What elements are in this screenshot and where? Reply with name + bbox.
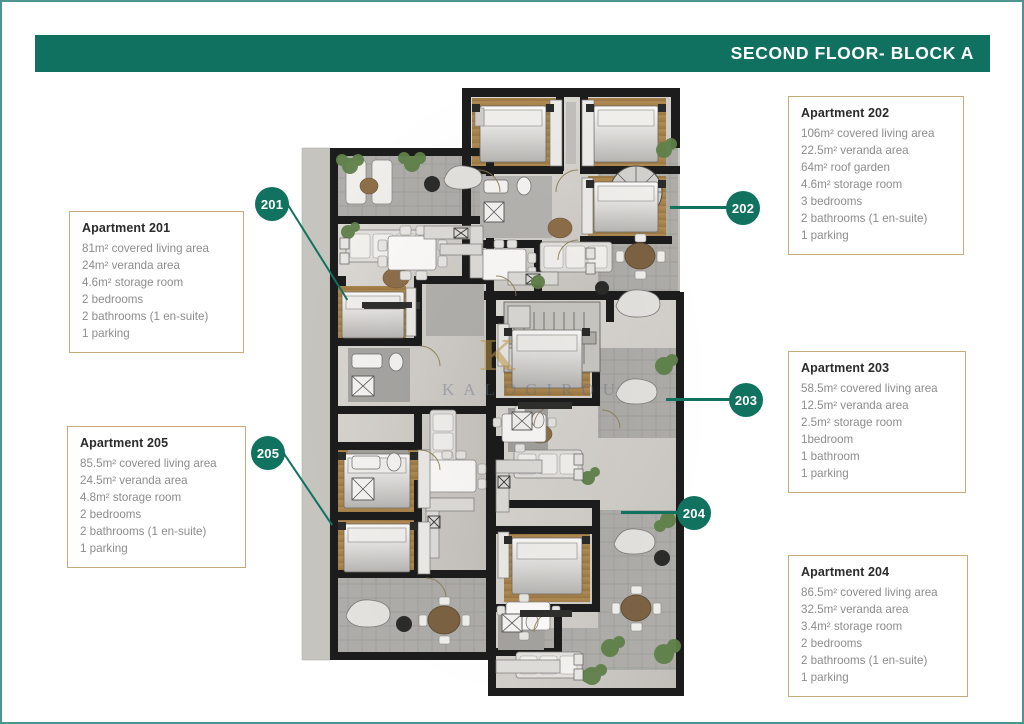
apartment-title-201: Apartment 201 — [82, 221, 231, 235]
apartment-spec: 86.5m² covered living area — [801, 584, 955, 601]
marker-203[interactable]: 203 — [729, 383, 763, 417]
apartment-spec: 4.8m² storage room — [80, 489, 233, 506]
leader-line-202 — [670, 206, 728, 209]
apartment-spec: 24m² veranda area — [82, 257, 231, 274]
apartment-spec: 3.4m² storage room — [801, 618, 955, 635]
apartment-spec: 4.6m² storage room — [82, 274, 231, 291]
floor-plan-graphic — [292, 80, 712, 700]
apartment-spec: 2 bedrooms — [801, 635, 955, 652]
apartment-spec: 12.5m² veranda area — [801, 397, 953, 414]
apartment-spec: 24.5m² veranda area — [80, 472, 233, 489]
page-title: SECOND FLOOR- BLOCK A — [731, 35, 974, 72]
apartment-title-203: Apartment 203 — [801, 361, 953, 375]
apartment-spec: 2 bathrooms (1 en-suite) — [801, 652, 955, 669]
apartment-info-203: Apartment 203 58.5m² covered living area… — [788, 351, 966, 493]
marker-204[interactable]: 204 — [677, 496, 711, 530]
apartment-spec: 1 parking — [82, 325, 231, 342]
apartment-spec: 81m² covered living area — [82, 240, 231, 257]
marker-205[interactable]: 205 — [251, 436, 285, 470]
apartment-info-201: Apartment 201 81m² covered living area 2… — [69, 211, 244, 353]
apartment-spec: 1 parking — [801, 227, 951, 244]
apartment-spec: 2 bathrooms (1 en-suite) — [82, 308, 231, 325]
apartment-spec: 85.5m² covered living area — [80, 455, 233, 472]
apartment-spec: 1 bathroom — [801, 448, 953, 465]
apartment-spec: 1 parking — [80, 540, 233, 557]
apartment-spec: 1 parking — [801, 669, 955, 686]
header-banner: SECOND FLOOR- BLOCK A — [35, 35, 990, 72]
apartment-spec: 1 parking — [801, 465, 953, 482]
floor-plan-svg — [292, 80, 712, 700]
marker-202[interactable]: 202 — [726, 191, 760, 225]
apartment-spec: 2 bedrooms — [82, 291, 231, 308]
apartment-spec: 58.5m² covered living area — [801, 380, 953, 397]
apartment-spec: 1bedroom — [801, 431, 953, 448]
leader-line-204 — [621, 511, 679, 514]
apartment-title-204: Apartment 204 — [801, 565, 955, 579]
apartment-spec: 3 bedrooms — [801, 193, 951, 210]
leader-line-203 — [666, 398, 731, 401]
apartment-spec: 4.6m² storage room — [801, 176, 951, 193]
apartment-info-202: Apartment 202 106m² covered living area … — [788, 96, 964, 255]
apartment-title-202: Apartment 202 — [801, 106, 951, 120]
apartment-spec: 2 bathrooms (1 en-suite) — [80, 523, 233, 540]
floor-plan-page: SECOND FLOOR- BLOCK A — [0, 0, 1024, 724]
apartment-spec: 106m² covered living area — [801, 125, 951, 142]
apartment-spec: 64m² roof garden — [801, 159, 951, 176]
apartment-spec: 2 bedrooms — [80, 506, 233, 523]
apartment-spec: 2.5m² storage room — [801, 414, 953, 431]
apartment-info-204: Apartment 204 86.5m² covered living area… — [788, 555, 968, 697]
apartment-spec: 2 bathrooms (1 en-suite) — [801, 210, 951, 227]
apartment-info-205: Apartment 205 85.5m² covered living area… — [67, 426, 246, 568]
apartment-spec: 22.5m² veranda area — [801, 142, 951, 159]
marker-201[interactable]: 201 — [255, 187, 289, 221]
apartment-title-205: Apartment 205 — [80, 436, 233, 450]
apartment-spec: 32.5m² veranda area — [801, 601, 955, 618]
